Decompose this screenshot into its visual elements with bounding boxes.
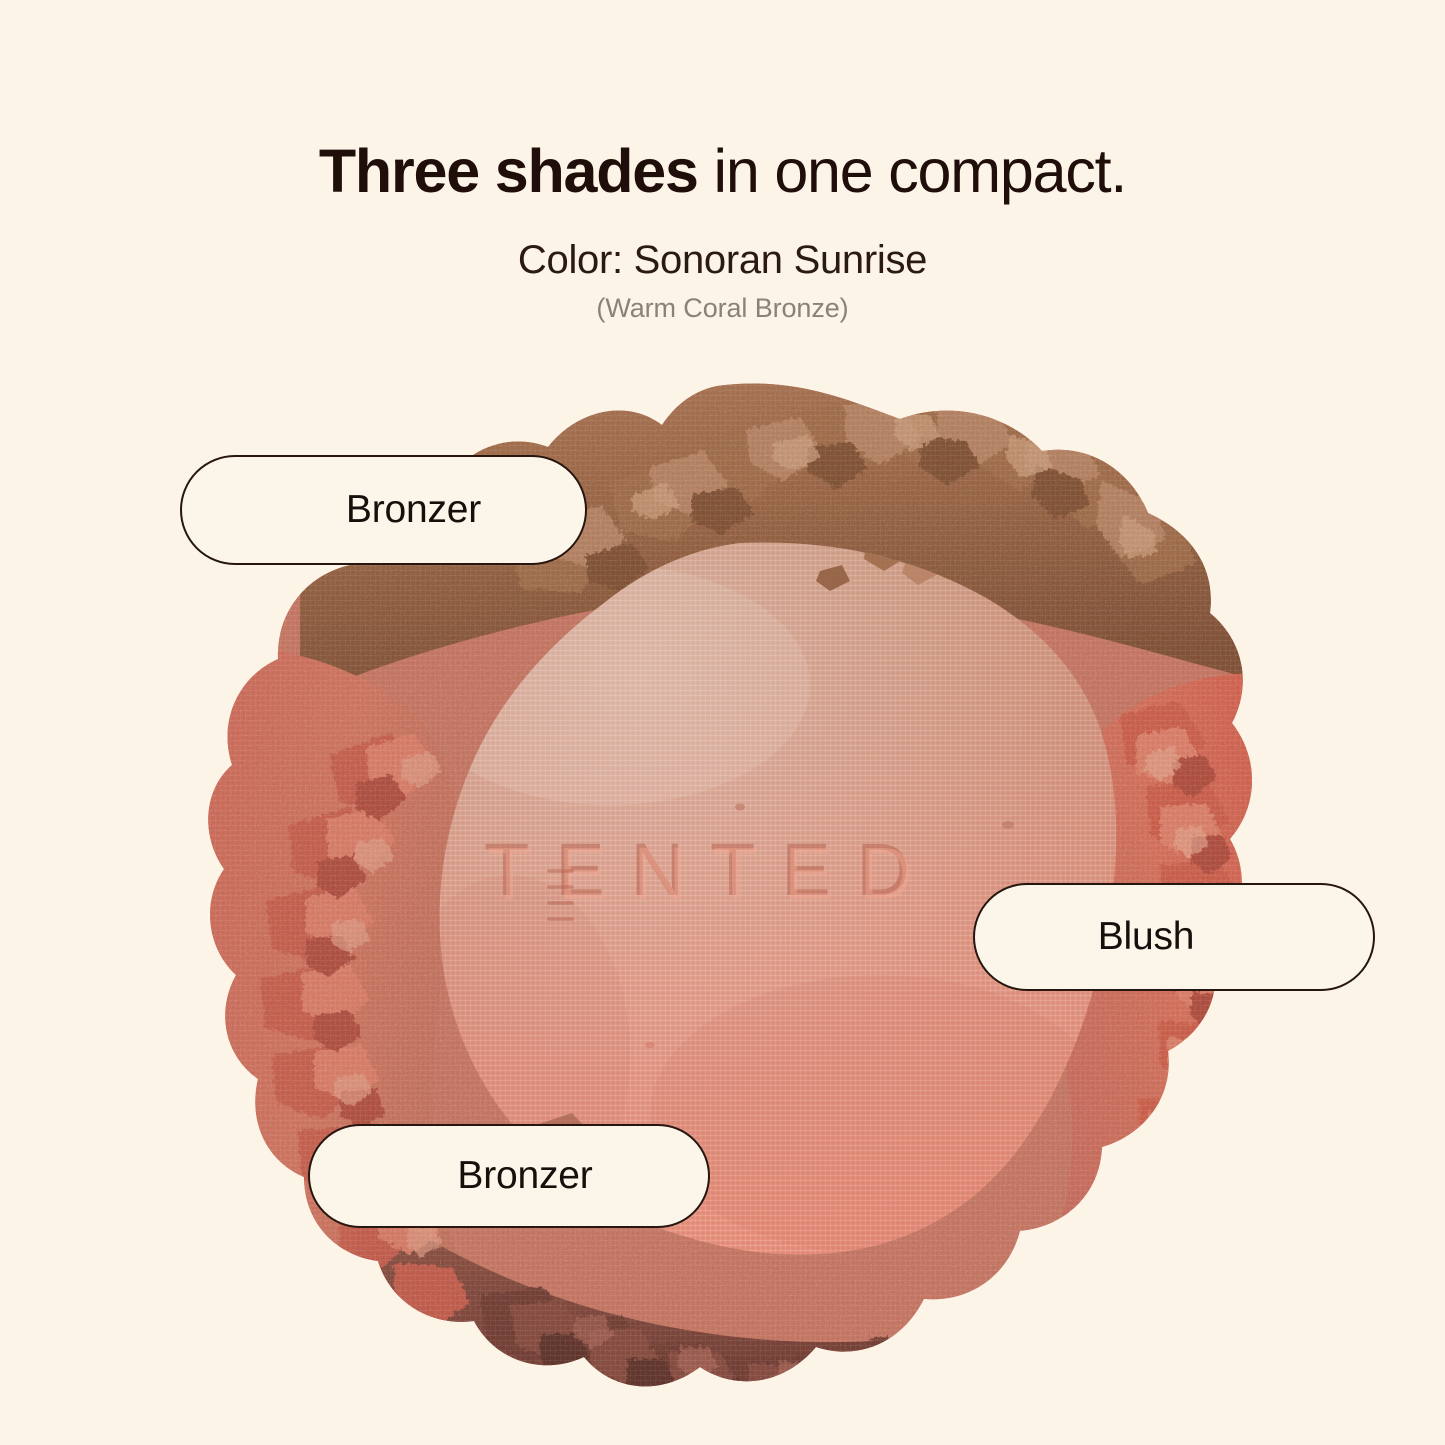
callout-blush[interactable]: Blush [973,883,1375,991]
callout-bronzer-bottom[interactable]: Bronzer [308,1124,710,1228]
shade-name-label: Color: Sonoran Sunrise [0,236,1445,284]
callout-blush-label: Blush [975,915,1373,959]
product-marketing-image: Three shades in one compact. Color: Sono… [0,0,1445,1445]
callout-bronzer-bottom-label: Bronzer [310,1154,708,1198]
page-headline: Three shades in one compact. [0,134,1445,208]
callout-bronzer-top-label: Bronzer [182,488,585,532]
callout-bronzer-top[interactable]: Bronzer [180,455,587,565]
headline-emphasis: Three shades [319,137,698,205]
shade-description-label: (Warm Coral Bronze) [0,291,1445,325]
headline-rest: in one compact. [698,137,1126,205]
embossed-logo: TENTED TENTED [484,828,939,919]
